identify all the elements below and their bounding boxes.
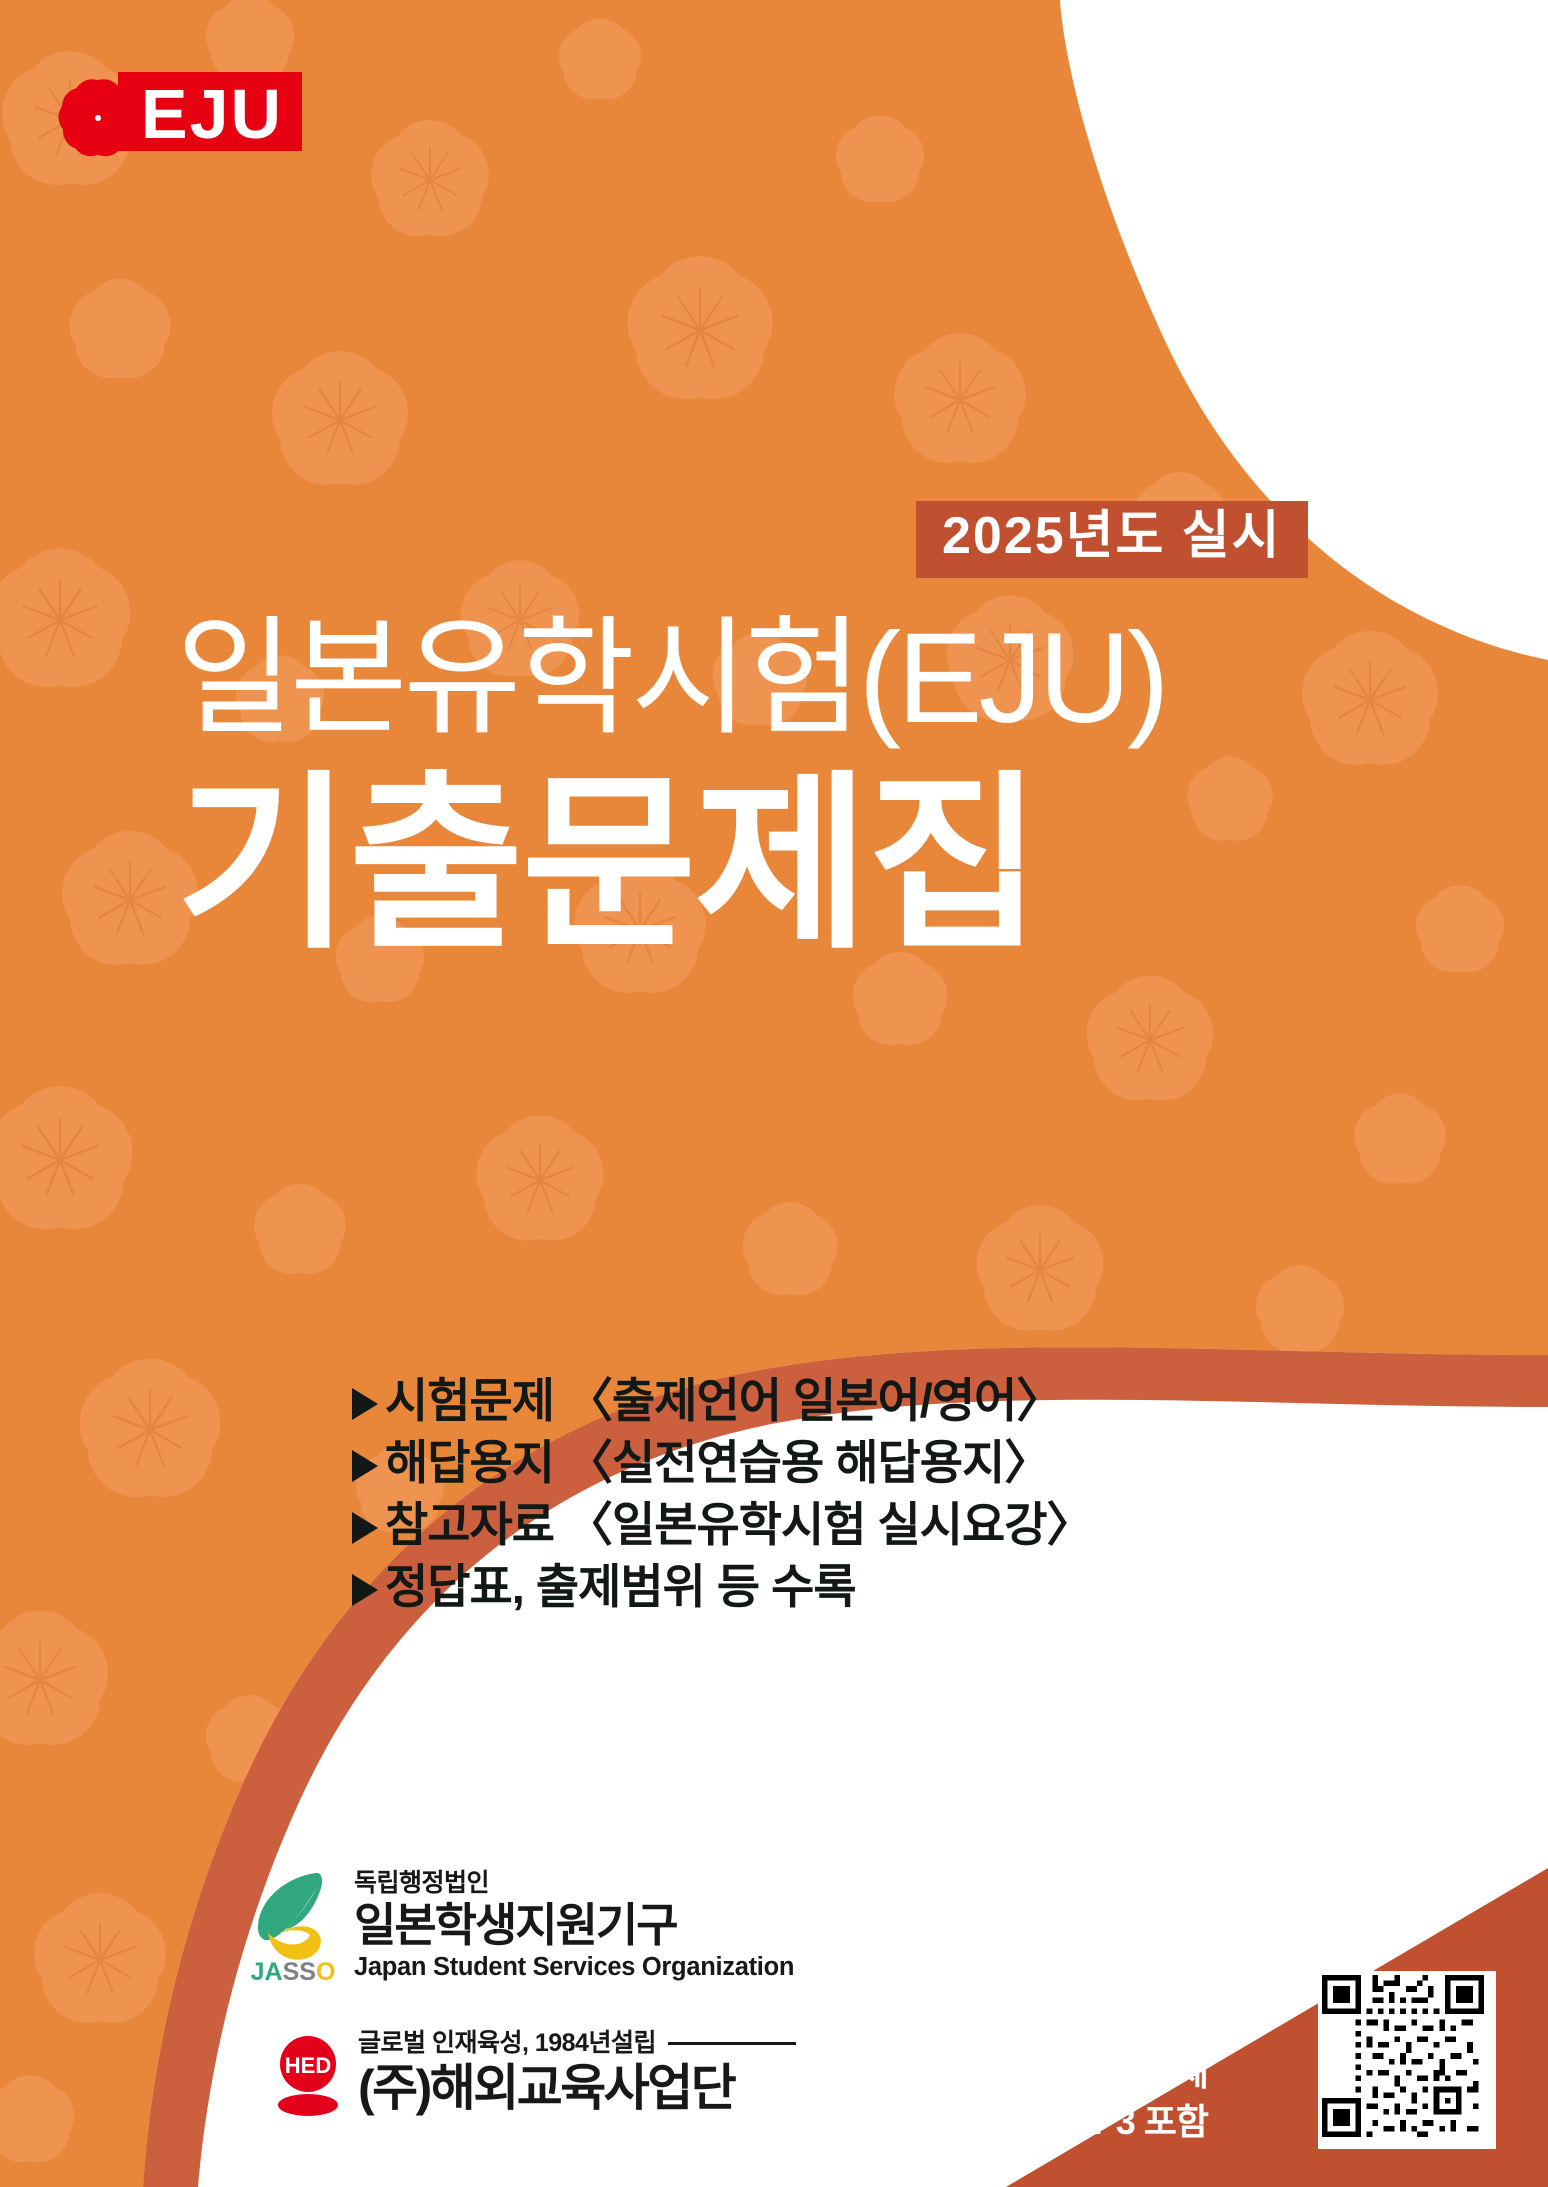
jasso-line1: 독립행정법인 (354, 1870, 794, 1898)
list-item: 해답용지 〈실전연습용 해답용지〉 (352, 1432, 1092, 1494)
list-item: 시험문제 〈출제언어 일본어/영어〉 (352, 1370, 1092, 1432)
list-item: 참고자료 〈일본유학시험 실시요강〉 (352, 1494, 1092, 1556)
feature-list: 시험문제 〈출제언어 일본어/영어〉 해답용지 〈실전연습용 해답용지〉 참고자… (352, 1370, 1092, 1618)
triangle-bullet-icon (352, 1450, 378, 1482)
triangle-bullet-icon (352, 1388, 378, 1420)
mp3-line1: 청독해 · (1064, 1998, 1208, 2048)
list-item-label: 시험문제 〈출제언어 일본어/영어〉 (385, 1370, 1062, 1432)
jasso-leaf-icon: JASSO (246, 1855, 340, 1987)
hed-line1-label: 글로벌 인재육성, 1984년설립 (358, 2030, 656, 2058)
list-item-label: 정답표, 출제범위 등 수록 (385, 1556, 856, 1618)
list-item-label: 참고자료 〈일본유학시험 실시요강〉 (385, 1494, 1092, 1556)
jasso-line2: 일본학생지원기구 (354, 1900, 794, 1952)
subtitle-line: 일본유학시험(EJU) (176, 615, 1166, 743)
list-item: 정답표, 출제범위 등 수록 (352, 1556, 1092, 1618)
year-banner: 2025년도 실시 (916, 501, 1308, 578)
hed-line1: 글로벌 인재육성, 1984년설립 (358, 2030, 796, 2058)
page-title: 기출문제집 (176, 770, 1040, 960)
hed-rule (668, 2042, 796, 2045)
triangle-bullet-icon (352, 1574, 378, 1606)
mp3-line3: MP3 포함 (1064, 2097, 1208, 2147)
hed-line2: (주)해외교육사업단 (358, 2061, 796, 2116)
jasso-line3: Japan Student Services Organization (354, 1952, 794, 1983)
mp3-note: 청독해 · 청해 문제 MP3 포함 (1064, 1998, 1208, 2147)
jasso-logo-block: JASSO 독립행정법인 일본학생지원기구 Japan Student Serv… (246, 1855, 794, 1987)
list-item-label: 해답용지 〈실전연습용 해답용지〉 (385, 1432, 1050, 1494)
qr-code-icon[interactable] (1318, 1971, 1496, 2149)
jasso-wordmark: JASSO (246, 1958, 340, 1987)
hed-badge-icon: HED (272, 2034, 344, 2118)
hed-logo-block: HED 글로벌 인재육성, 1984년설립 (주)해외교육사업단 (272, 2030, 796, 2118)
svg-text:HED: HED (285, 2053, 331, 2078)
book-cover: EJU 2025년도 실시 일본유학시험(EJU) 기출문제집 시험문제 〈출제… (0, 0, 1548, 2187)
triangle-bullet-icon (352, 1512, 378, 1544)
eju-logo: EJU (52, 66, 302, 164)
eju-wordmark: EJU (141, 75, 283, 153)
mp3-line2: 청해 문제 (1064, 2048, 1208, 2098)
year-banner-label: 2025년도 실시 (942, 509, 1282, 564)
